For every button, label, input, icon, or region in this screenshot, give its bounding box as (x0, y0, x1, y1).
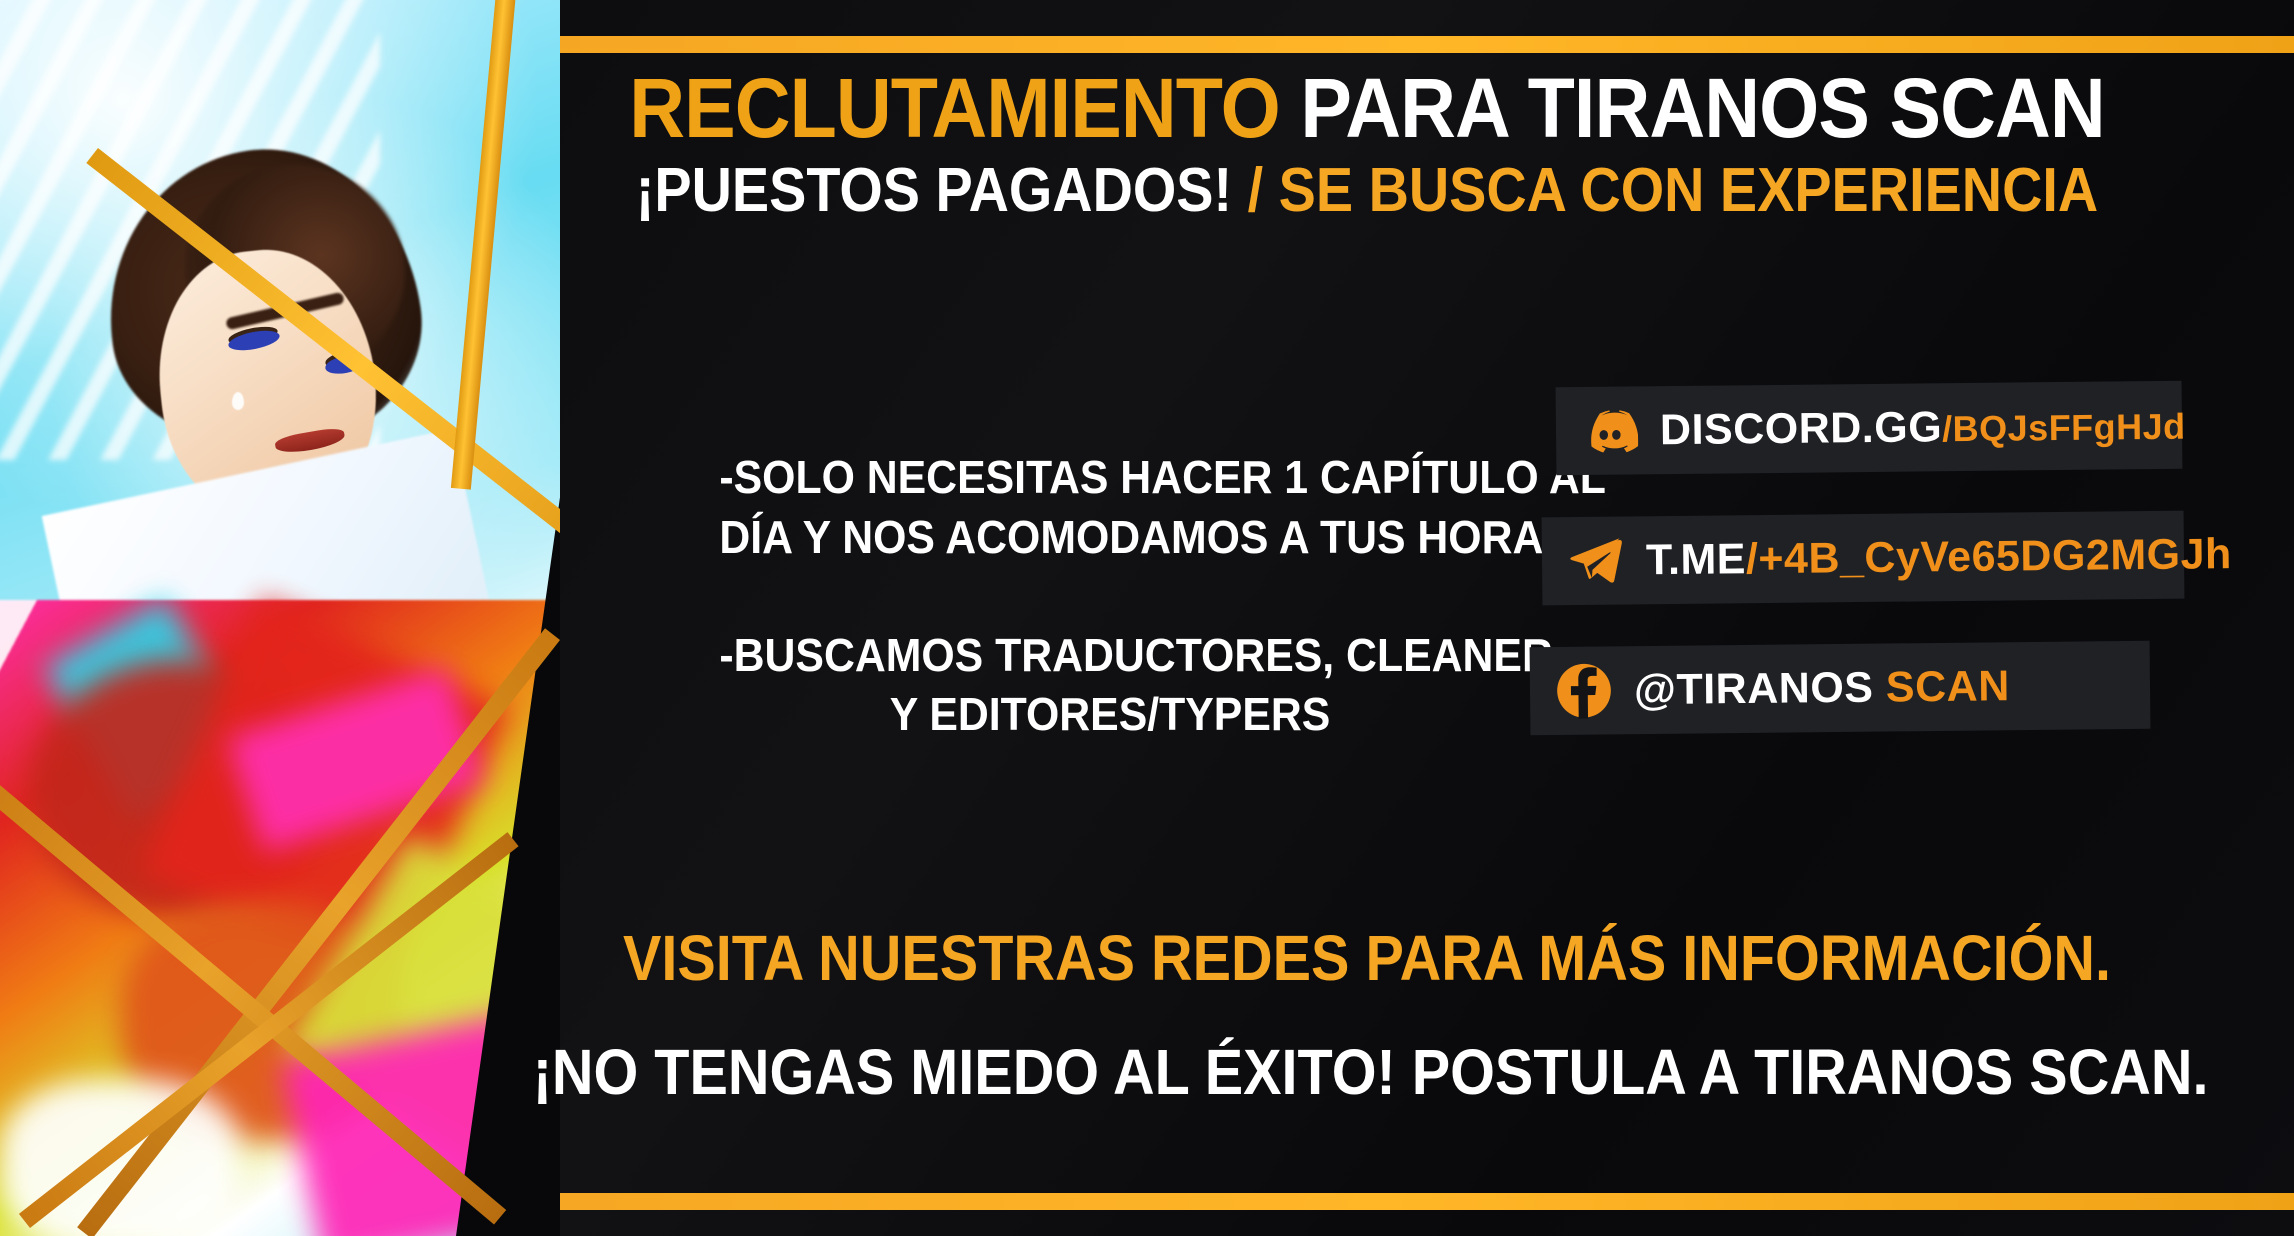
banner-subtitle: ¡PUESTOS PAGADOS! / SE BUSCA CON EXPERIE… (533, 160, 2202, 222)
requirement-line: Y EDITORES/TYPERS (719, 685, 1500, 745)
cta-line-1: VISITA NUESTRAS REDES PARA MÁS INFORMACI… (533, 926, 2202, 990)
telegram-invite-code: /+4B_CyVe65DG2MGJh (1746, 530, 2232, 583)
requirement-line: -SOLO NECESITAS HACER 1 CAPÍTULO AL (719, 448, 1500, 508)
call-to-action: VISITA NUESTRAS REDES PARA MÁS INFORMACI… (440, 926, 2294, 1104)
title-highlight: RECLUTAMIENTO (629, 61, 1280, 155)
bottom-gold-rule (468, 1193, 2294, 1210)
top-gold-rule (545, 36, 2294, 53)
subtitle-gold: / SE BUSCA CON EXPERIENCIA (1248, 156, 2099, 225)
subtitle-white: ¡PUESTOS PAGADOS! (636, 156, 1232, 225)
telegram-link-text: T.ME/+4B_CyVe65DG2MGJh (1646, 530, 2232, 585)
cta-line-2: ¡NO TENGAS MIEDO AL ÉXITO! POSTULA A TIR… (533, 1040, 2202, 1104)
contact-facebook[interactable]: @TIRANOS SCAN (1530, 641, 2151, 735)
discord-link-text: DISCORD.GG/BQJsFFgHJd (1660, 400, 2186, 455)
requirements-list: -SOLO NECESITAS HACER 1 CAPÍTULO AL DÍA … (690, 448, 1530, 745)
telegram-domain: T.ME (1646, 535, 1746, 584)
facebook-handle: @TIRANOS (1634, 663, 1874, 714)
discord-domain: DISCORD.GG (1660, 403, 1943, 454)
facebook-handle-accent: SCAN (1886, 662, 2010, 711)
requirement-line: DÍA Y NOS ACOMODAMOS A TUS HORARIOS (719, 508, 1500, 568)
contact-telegram[interactable]: T.ME/+4B_CyVe65DG2MGJh (1542, 511, 2185, 606)
discord-invite-code: /BQJsFFgHJd (1942, 405, 2186, 449)
character-sweat-drop (232, 392, 244, 410)
title-rest: PARA TIRANOS SCAN (1300, 61, 2104, 155)
telegram-icon (1568, 533, 1625, 590)
requirement-line: -BUSCAMOS TRADUCTORES, CLEANER (719, 626, 1500, 686)
facebook-icon (1556, 662, 1613, 719)
banner-title: RECLUTAMIENTO PARA TIRANOS SCAN (514, 66, 2220, 150)
contact-discord[interactable]: DISCORD.GG/BQJsFFgHJd (1556, 381, 2183, 476)
contact-list: DISCORD.GG/BQJsFFgHJd T.ME/+4B_CyVe65DG2… (1556, 384, 2256, 774)
facebook-link-text: @TIRANOS SCAN (1634, 662, 2010, 715)
recruitment-banner: RECLUTAMIENTO PARA TIRANOS SCAN ¡PUESTOS… (0, 0, 2294, 1236)
discord-icon (1582, 402, 1639, 459)
